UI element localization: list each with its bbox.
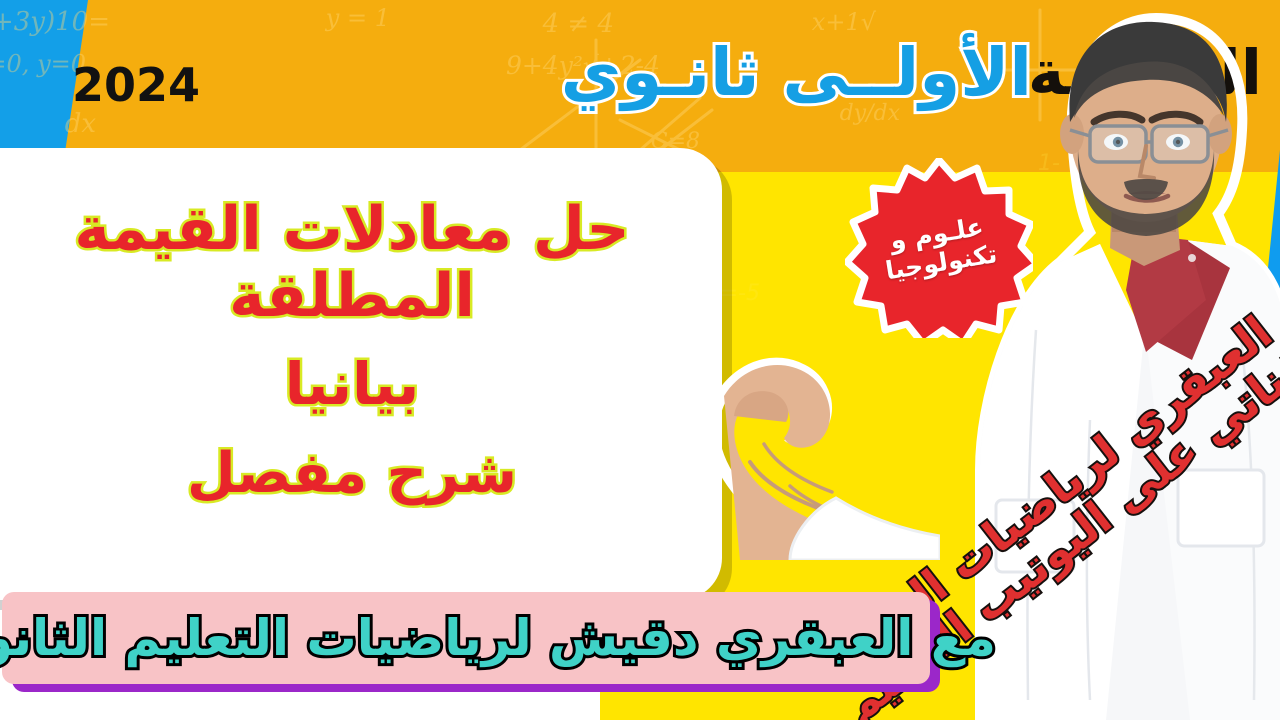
- bottom-banner: مع العبقري دقيش لرياضيات التعليم الثانوي: [2, 592, 930, 684]
- title-line-1: حل معادلات القيمة المطلقة: [0, 196, 722, 330]
- science-technology-badge: علـوم و تكنولوجيا: [845, 158, 1033, 338]
- title-card-text: حل معادلات القيمة المطلقة بيانيا شرح مفص…: [0, 148, 722, 600]
- title-line-2: بيانيا: [285, 352, 419, 417]
- bottom-banner-text: مع العبقري دقيش لرياضيات التعليم الثانوي: [0, 609, 996, 667]
- thumbnail-canvas: =10(x+3y) x=0, y=0 dx ∫ y' dx y = 1 4 ≠ …: [0, 0, 1280, 720]
- header-year-number: 2024: [72, 58, 200, 112]
- title-line-3: شرح مفصل: [187, 443, 517, 506]
